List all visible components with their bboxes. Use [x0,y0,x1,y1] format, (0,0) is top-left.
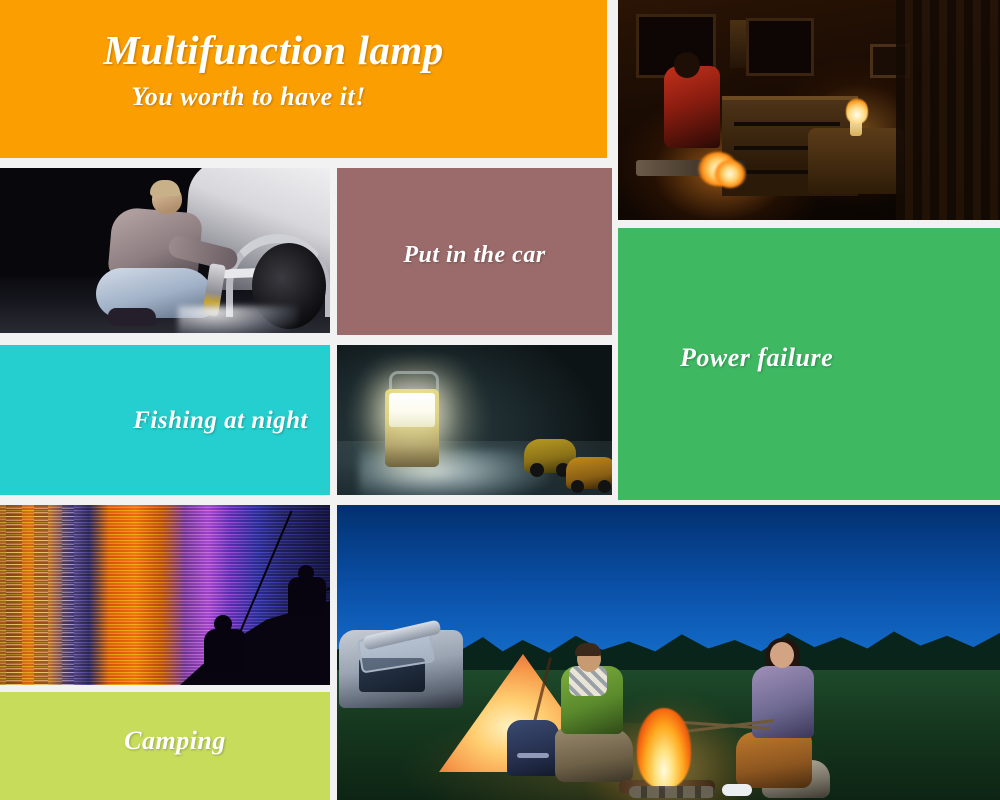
page-subtitle: You worth to have it! [0,84,607,110]
panel-power-failure: Power failure [618,228,1000,500]
candle-flame [846,98,868,124]
caption-camping: Camping [0,726,330,756]
vertical-blinds [896,0,1000,220]
angler-far-body [288,577,326,617]
caption-put-in-the-car: Put in the car [337,242,612,269]
man-hair [575,643,601,656]
panel-fishing-at-night: Fishing at night [0,345,330,495]
photo-night-fishing-lake [0,505,330,685]
page-title: Multifunction lamp [0,30,607,71]
kitchen-window-right [746,18,814,76]
toy-vehicle-2 [566,457,612,489]
toy-wheel [530,463,544,477]
drawer-handle-1 [734,122,840,126]
dining-table [808,128,904,194]
candle-glow-small [714,160,746,188]
toy-wheel [598,480,611,493]
toy-wheel [571,480,584,493]
photo-candlelit-kitchen [618,0,1000,220]
woman-legs [736,732,812,788]
photo-campfire-twilight [337,505,1000,800]
woman-shoe [722,784,752,796]
man-hair [150,180,180,196]
woman-head [770,642,794,668]
backpack [507,720,559,776]
panel-put-in-the-car: Put in the car [337,168,612,335]
panel-camping: Camping [0,692,330,800]
fire-ring-stones [629,786,715,798]
caption-fishing-at-night: Fishing at night [133,407,308,435]
photo-car-roadside-night [0,168,330,333]
header-panel: Multifunction lamp You worth to have it! [0,0,607,158]
photo-led-work-lamp [337,345,612,495]
man-legs [555,728,633,782]
campfire-flames [637,708,691,788]
person-red-jacket [664,66,720,148]
lamp-led-panel [389,393,435,427]
backpack-strap [517,753,549,758]
product-poster: Multifunction lamp You worth to have it!… [0,0,1000,800]
angler-near-head [214,615,232,633]
man-shoe [108,308,156,326]
light-streak [34,505,48,685]
caption-power-failure: Power failure [680,343,833,373]
person-head [674,52,700,78]
lamp-beam-glow [178,306,298,333]
light-streak [6,505,22,685]
angler-near-body [204,629,246,673]
light-streak [62,505,74,685]
angler-far-head [298,565,314,581]
